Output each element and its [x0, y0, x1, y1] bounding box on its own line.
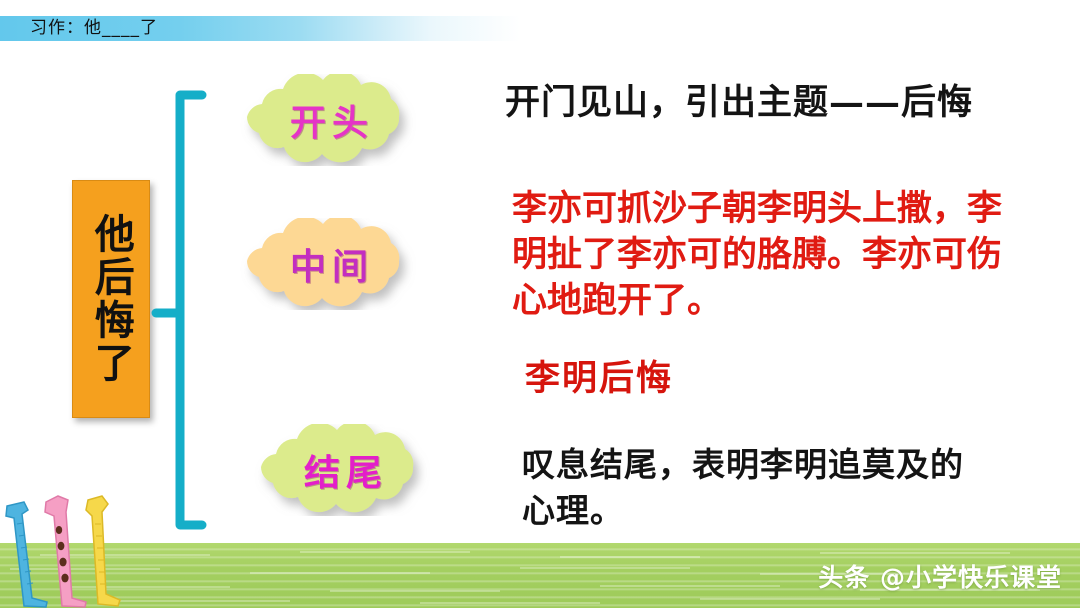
intro-description-text: 开门见山，引出主题——后悔: [505, 80, 1045, 126]
cloud-label-start: 开头: [290, 94, 374, 146]
watermark-text: 头条 @小学快乐课堂: [818, 558, 1062, 594]
cloud-stage-start: 开头: [222, 74, 442, 166]
cloud-stage-middle: 中间: [222, 218, 442, 310]
giraffe-ruler-icons: [2, 490, 152, 608]
topic-title-box: 他后悔了: [72, 180, 150, 418]
giraffe-ruler-pink-icon: [45, 496, 86, 607]
cloud-label-end: 结尾: [304, 444, 388, 496]
ending-description-text: 叹息结尾，表明李明追莫及的心理。: [522, 442, 992, 533]
cloud-label-middle: 中间: [290, 238, 374, 290]
bracket-connector-icon: [150, 85, 230, 535]
topic-title-text: 他后悔了: [88, 213, 134, 385]
slide-canvas: 习作：他____了 他后悔了 开头: [0, 0, 1080, 608]
page-title: 习作：他____了: [30, 15, 158, 42]
body-narrative-text: 李亦可抓沙子朝李明头上撒，李明扯了李亦可的胳膊。李亦可伤心地跑开了。: [512, 186, 1032, 325]
giraffe-ruler-yellow-icon: [86, 496, 120, 606]
cloud-stage-end: 结尾: [236, 424, 456, 516]
header-ribbon: [0, 16, 1080, 41]
regret-highlight-text: 李明后悔: [525, 356, 985, 402]
giraffe-ruler-blue-icon: [6, 502, 47, 607]
